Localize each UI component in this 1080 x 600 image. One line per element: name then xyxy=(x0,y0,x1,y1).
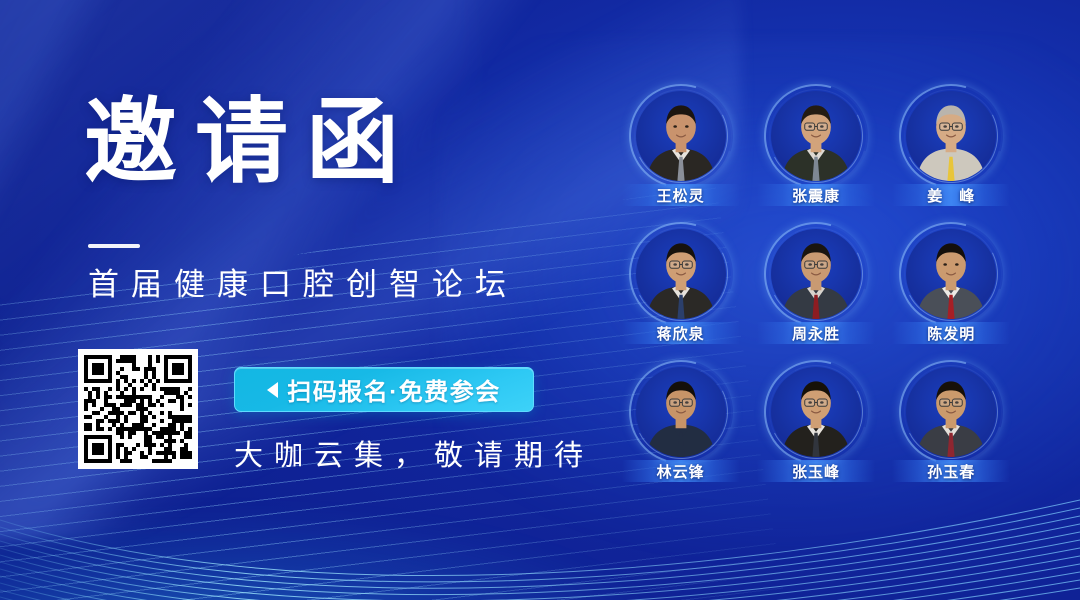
page-subtitle: 首届健康口腔创智论坛 xyxy=(88,266,518,303)
triangle-left-icon xyxy=(267,382,278,398)
speaker-card[interactable]: 蒋欣泉 xyxy=(614,220,747,354)
speaker-portrait-5 xyxy=(764,222,868,326)
speaker-name: 蒋欣泉 xyxy=(657,323,705,344)
speaker-card[interactable]: 张玉峰 xyxy=(749,358,882,492)
portrait-photo xyxy=(636,91,726,181)
registration-qr-code[interactable] xyxy=(78,349,198,469)
speaker-name: 林云锋 xyxy=(657,461,705,482)
speaker-name: 王松灵 xyxy=(657,185,705,206)
scan-to-register-label: 扫码报名·免费参会 xyxy=(287,372,501,407)
speaker-name-bar: 张震康 xyxy=(757,184,875,206)
speaker-portrait-6 xyxy=(899,222,1003,326)
portrait-photo xyxy=(906,91,996,181)
speaker-portrait-9 xyxy=(899,360,1003,464)
speaker-portrait-7 xyxy=(629,360,733,464)
speaker-name: 姜 峰 xyxy=(927,185,975,206)
speaker-name: 孙玉春 xyxy=(927,461,975,482)
speaker-portrait-8 xyxy=(764,360,868,464)
speaker-card[interactable]: 林云锋 xyxy=(614,358,747,492)
speaker-name-bar: 周永胜 xyxy=(757,322,875,344)
portrait-photo xyxy=(771,91,861,181)
tagline-text: 大咖云集，敬请期待 xyxy=(234,432,594,474)
portrait-photo xyxy=(636,229,726,319)
speaker-portrait-3 xyxy=(899,84,1003,188)
speaker-name: 张震康 xyxy=(792,185,840,206)
speaker-card[interactable]: 张震康 xyxy=(749,82,882,216)
speaker-name-bar: 张玉峰 xyxy=(757,460,875,482)
speaker-portrait-2 xyxy=(764,84,868,188)
portrait-photo xyxy=(636,367,726,457)
invitation-poster: 邀请函 首届健康口腔创智论坛 扫码报名·免费参会 大咖云集，敬请期待 王松灵 xyxy=(0,0,1080,600)
speaker-name-bar: 陈发明 xyxy=(892,322,1010,344)
portrait-photo xyxy=(906,367,996,457)
speaker-name: 张玉峰 xyxy=(792,461,840,482)
portrait-photo xyxy=(771,229,861,319)
speaker-name-bar: 孙玉春 xyxy=(892,460,1010,482)
speaker-name-bar: 林云锋 xyxy=(622,460,740,482)
speaker-name-bar: 王松灵 xyxy=(622,184,740,206)
scan-to-register-button[interactable]: 扫码报名·免费参会 xyxy=(234,367,534,412)
title-divider xyxy=(88,244,140,248)
speaker-card[interactable]: 孙玉春 xyxy=(885,358,1018,492)
page-title: 邀请函 xyxy=(84,96,417,189)
speaker-name: 陈发明 xyxy=(927,323,975,344)
portrait-photo xyxy=(906,229,996,319)
speaker-card[interactable]: 王松灵 xyxy=(614,82,747,216)
speaker-card[interactable]: 陈发明 xyxy=(885,220,1018,354)
speaker-grid: 王松灵 张震康 xyxy=(614,82,1018,492)
left-content-block: 邀请函 首届健康口腔创智论坛 扫码报名·免费参会 大咖云集，敬请期待 xyxy=(0,0,610,600)
speaker-portrait-1 xyxy=(629,84,733,188)
speaker-card[interactable]: 周永胜 xyxy=(749,220,882,354)
speaker-name: 周永胜 xyxy=(792,323,840,344)
speaker-name-bar: 蒋欣泉 xyxy=(622,322,740,344)
speaker-card[interactable]: 姜 峰 xyxy=(885,82,1018,216)
speaker-name-bar: 姜 峰 xyxy=(892,184,1010,206)
speaker-portrait-4 xyxy=(629,222,733,326)
portrait-photo xyxy=(771,367,861,457)
